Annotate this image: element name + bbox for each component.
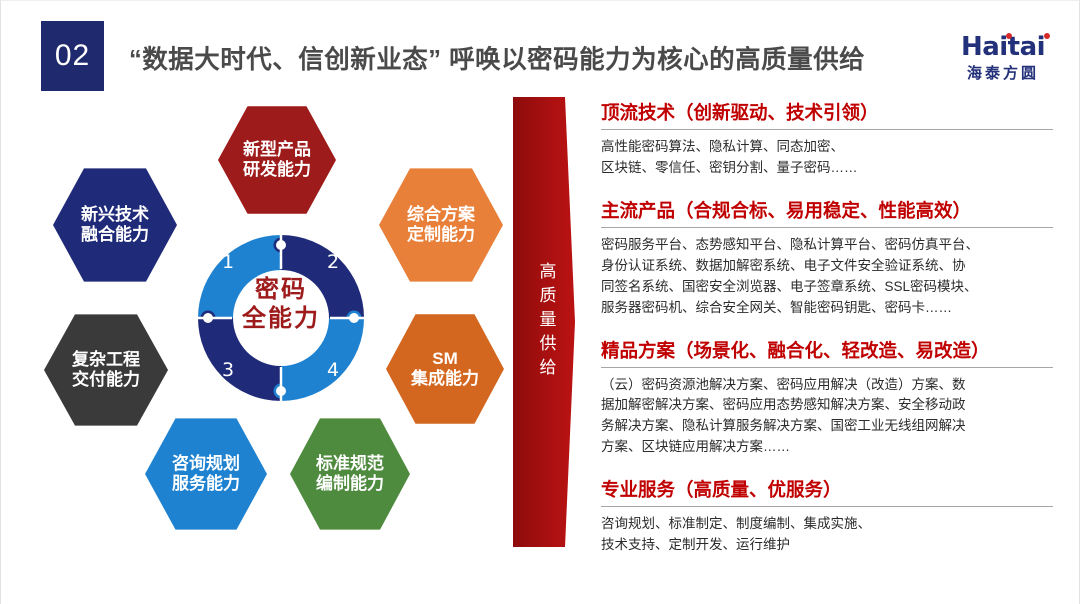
section-body: 高性能密码算法、隐私计算、同态加密、 区块链、零信任、密钥分割、量子密码……	[601, 137, 1053, 179]
section-dingliu-jishu: 顶流技术（创新驱动、技术引领） 高性能密码算法、隐私计算、同态加密、 区块链、零…	[601, 99, 1053, 179]
slide-header: 02 “数据大时代、信创新业态” 呼唤以密码能力为核心的高质量供给 Haitai…	[1, 1, 1080, 97]
hexagon-label-line1: 新兴技术	[81, 205, 149, 225]
hexagon-fuza-gongcheng[interactable]: 复杂工程 交付能力	[44, 312, 168, 428]
quality-supply-banner: 高质量供给	[513, 97, 575, 547]
hexagon-label-line1: 综合方案	[407, 205, 475, 225]
section-body: 咨询规划、标准制定、制度编制、集成实施、 技术支持、定制开发、运行维护	[601, 514, 1053, 556]
section-body: （云）密码资源池解决方案、密码应用解决（改造）方案、数 据加解密解决方案、密码应…	[601, 375, 1053, 459]
puzzle-ring: 1 2 3 4 密码 全能力	[186, 223, 376, 413]
hexagon-sm-jicheng[interactable]: SM 集成能力	[386, 312, 504, 426]
section-body-line: 区块链、零信任、密钥分割、量子密码……	[601, 158, 1053, 179]
ring-number-1: 1	[222, 251, 234, 273]
section-body-line: 方案、区块链应用解决方案……	[601, 437, 1053, 458]
hexagon-label-line2: 服务能力	[172, 474, 240, 494]
banner-label: 高质量供给	[513, 97, 575, 547]
section-heading: 主流产品（合规合标、易用稳定、性能高效）	[601, 197, 1053, 223]
hexagon-label-line1: 新型产品	[243, 140, 311, 160]
hexagon-label-line2: 融合能力	[81, 225, 149, 245]
section-heading: 精品方案（场景化、融合化、轻改造、易改造）	[601, 337, 1053, 363]
hexagon-zixun-guihua[interactable]: 咨询规划 服务能力	[145, 416, 267, 532]
section-body-line: 务解决方案、隐私计算服务解决方案、国密工业无线组网解决	[601, 416, 1053, 437]
content-column: 顶流技术（创新驱动、技术引领） 高性能密码算法、隐私计算、同态加密、 区块链、零…	[601, 99, 1053, 566]
hexagon-zonghe-fangan[interactable]: 综合方案 定制能力	[379, 166, 503, 284]
section-heading: 专业服务（高质量、优服务）	[601, 476, 1053, 502]
section-body: 密码服务平台、态势感知平台、隐私计算平台、密码仿真平台、 身份认证系统、数据加解…	[601, 235, 1053, 319]
ring-number-3: 3	[222, 359, 234, 381]
section-body-line: 咨询规划、标准制定、制度编制、集成实施、	[601, 514, 1053, 535]
slide: 02 “数据大时代、信创新业态” 呼唤以密码能力为核心的高质量供给 Haitai…	[0, 0, 1080, 604]
company-logo: Haitai 海泰方圆	[939, 27, 1067, 89]
section-divider	[601, 367, 1053, 368]
section-divider	[601, 506, 1053, 507]
hexagon-xinxing-chanpin[interactable]: 新型产品 研发能力	[218, 104, 336, 216]
logo-wordmark-text: Haitai	[961, 32, 1045, 62]
logo-wordmark-en: Haitai	[961, 34, 1045, 60]
ring-number-4: 4	[327, 359, 339, 381]
hexagon-label-line1: 标准规范	[316, 454, 384, 474]
hexagon-label-line2: 集成能力	[411, 369, 479, 389]
section-zhuanye-fuwu: 专业服务（高质量、优服务） 咨询规划、标准制定、制度编制、集成实施、 技术支持、…	[601, 476, 1053, 556]
section-body-line: 密码服务平台、态势感知平台、隐私计算平台、密码仿真平台、	[601, 235, 1053, 256]
hexagon-label-line2: 研发能力	[243, 160, 311, 180]
hexagon-label-line1: 复杂工程	[72, 350, 140, 370]
section-body-line: 技术支持、定制开发、运行维护	[601, 535, 1053, 556]
ring-center-label: 密码 全能力	[186, 275, 376, 334]
logo-dot-icon	[1044, 33, 1050, 39]
capability-diagram: 新兴技术 融合能力 新型产品 研发能力 综合方案 定制能力 SM 集成能力	[41, 96, 521, 551]
section-heading: 顶流技术（创新驱动、技术引领）	[601, 99, 1053, 125]
section-divider	[601, 227, 1053, 228]
section-body-line: 高性能密码算法、隐私计算、同态加密、	[601, 137, 1053, 158]
section-body-line: （云）密码资源池解决方案、密码应用解决（改造）方案、数	[601, 375, 1053, 396]
hexagon-label-line1: SM	[411, 349, 479, 369]
hexagon-label-line2: 交付能力	[72, 370, 140, 390]
logo-wordmark-cn: 海泰方圆	[967, 62, 1039, 83]
hexagon-xinxing-jishu[interactable]: 新兴技术 融合能力	[53, 166, 177, 284]
section-body-line: 身份认证系统、数据加解密系统、电子文件安全验证系统、协	[601, 256, 1053, 277]
page-title: “数据大时代、信创新业态” 呼唤以密码能力为核心的高质量供给	[129, 39, 929, 76]
section-zhuliu-chanpin: 主流产品（合规合标、易用稳定、性能高效） 密码服务平台、态势感知平台、隐私计算平…	[601, 197, 1053, 319]
hexagon-label-line2: 编制能力	[316, 474, 384, 494]
section-divider	[601, 129, 1053, 130]
hexagon-label-line1: 咨询规划	[172, 454, 240, 474]
ring-center-line1: 密码	[186, 275, 376, 304]
section-body-line: 同签名系统、国密安全浏览器、电子签章系统、SSL密码模块、	[601, 277, 1053, 298]
ring-center-line2: 全能力	[186, 304, 376, 333]
ring-number-2: 2	[327, 251, 339, 273]
section-jingpin-fangan: 精品方案（场景化、融合化、轻改造、易改造） （云）密码资源池解决方案、密码应用解…	[601, 337, 1053, 459]
section-body-line: 据加解密解决方案、密码应用态势感知解决方案、安全移动政	[601, 395, 1053, 416]
hexagon-label-line2: 定制能力	[407, 225, 475, 245]
slide-number-badge: 02	[41, 21, 104, 91]
section-body-line: 服务器密码机、综合安全网关、智能密码钥匙、密码卡……	[601, 298, 1053, 319]
hexagon-biaozhun-guifan[interactable]: 标准规范 编制能力	[290, 416, 410, 532]
logo-dot-icon	[1006, 33, 1012, 39]
